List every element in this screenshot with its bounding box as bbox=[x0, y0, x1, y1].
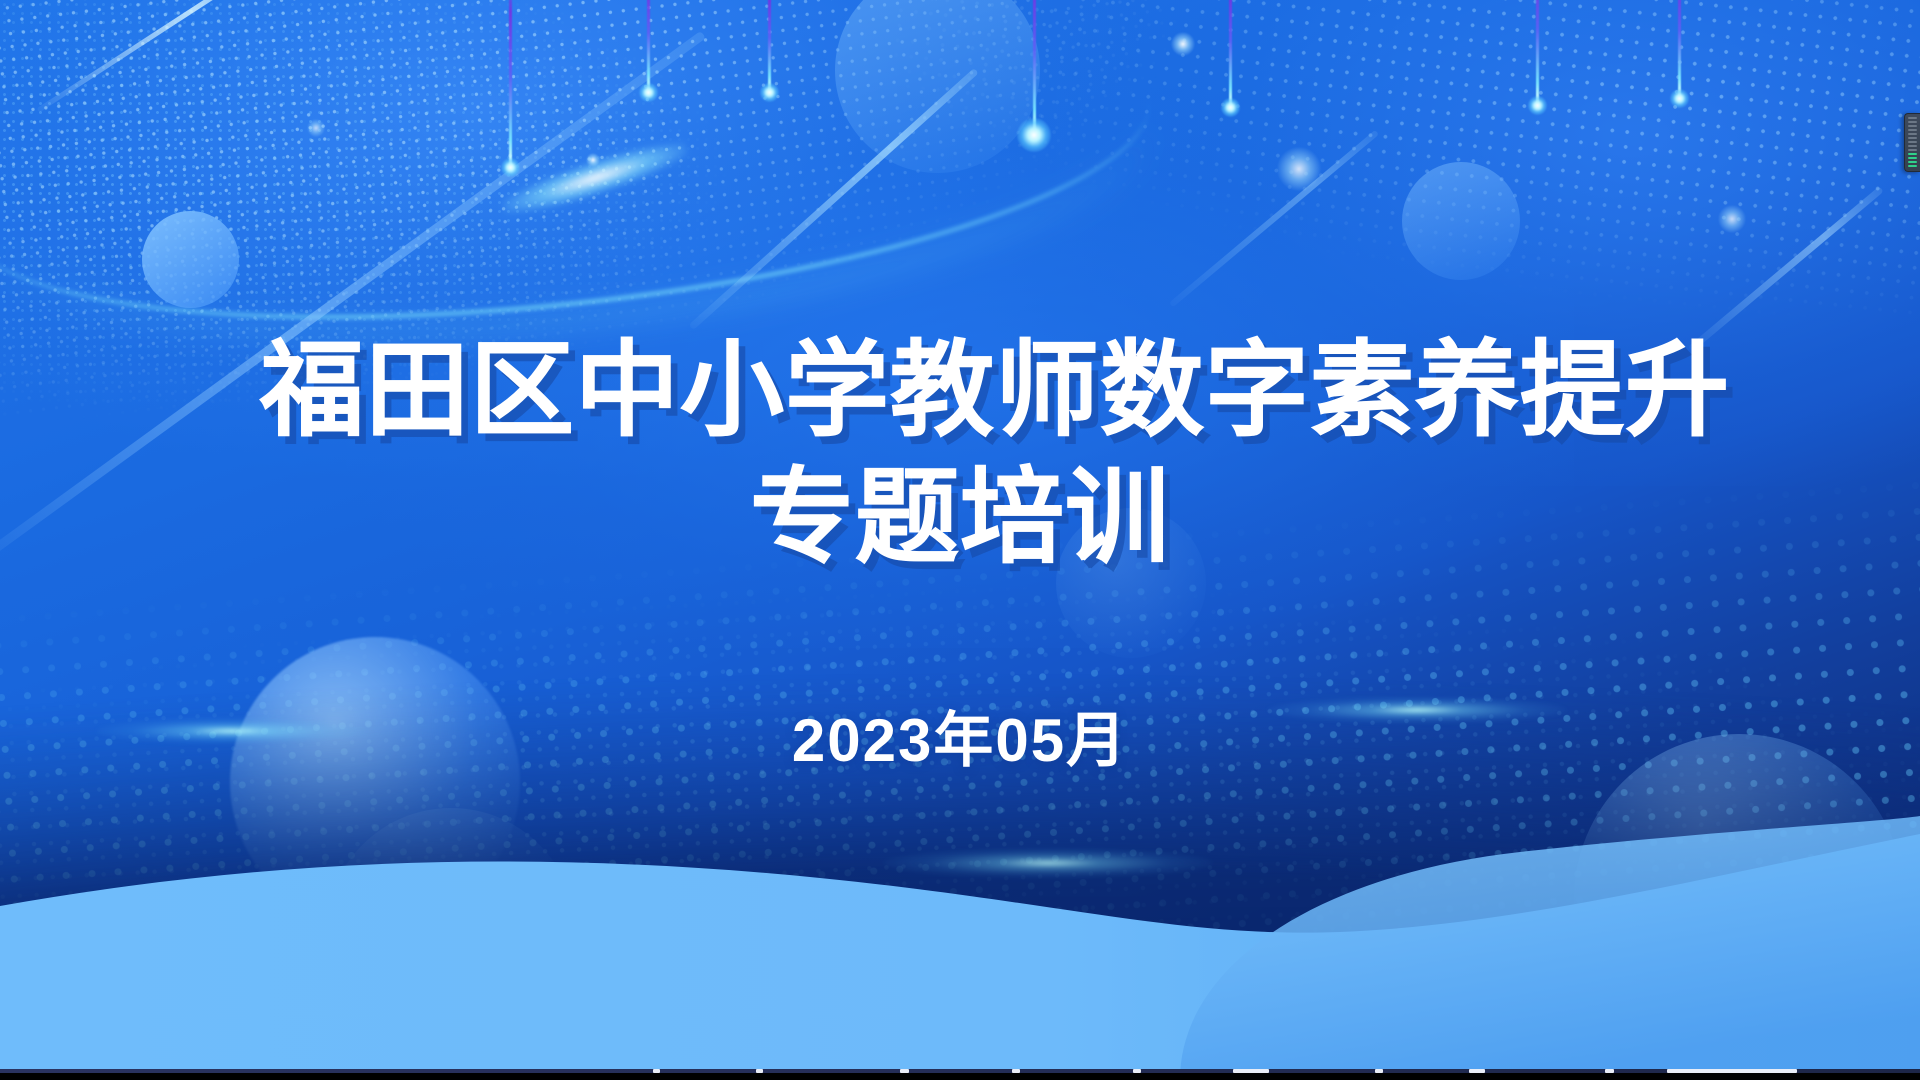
slide-title: 福田区中小学教师数字素养提升 专题培训 bbox=[260, 328, 1660, 582]
progress-rail-segment bbox=[1233, 1069, 1269, 1073]
level-bar-off bbox=[1908, 133, 1917, 135]
progress-rail-segment bbox=[900, 1069, 909, 1073]
progress-rail-segment bbox=[1667, 1069, 1798, 1073]
progress-rail-segment bbox=[1375, 1069, 1384, 1073]
title-line-2: 专题培训 bbox=[260, 455, 1660, 582]
progress-rail-segment bbox=[1012, 1069, 1021, 1073]
slide-content: 福田区中小学教师数字素养提升 专题培训 2023年05月 bbox=[0, 0, 1920, 1080]
level-bar-off bbox=[1908, 129, 1917, 131]
progress-rail-segment bbox=[653, 1069, 660, 1073]
slide-subtitle-date: 2023年05月 bbox=[792, 692, 1128, 779]
progress-rail-segment bbox=[1469, 1069, 1485, 1073]
level-bar-off bbox=[1908, 117, 1917, 119]
level-bar-off bbox=[1908, 137, 1917, 139]
progress-rail-track[interactable] bbox=[0, 1069, 1920, 1073]
level-bar-off bbox=[1908, 121, 1917, 123]
level-bar-off bbox=[1908, 141, 1917, 143]
progress-rail-segment bbox=[1133, 1069, 1142, 1073]
level-bar-off bbox=[1908, 125, 1917, 127]
level-bar-off bbox=[1908, 149, 1917, 151]
signal-level-indicator[interactable] bbox=[1904, 113, 1920, 172]
presentation-slide: 福田区中小学教师数字素养提升 专题培训 2023年05月 bbox=[0, 0, 1920, 1080]
level-bar-off bbox=[1908, 145, 1917, 147]
progress-rail-segment bbox=[756, 1069, 763, 1073]
level-bar-on bbox=[1908, 161, 1917, 163]
progress-rail-segment bbox=[1605, 1069, 1614, 1073]
level-bar-on bbox=[1908, 153, 1917, 155]
progress-rail[interactable] bbox=[0, 1069, 1920, 1080]
level-bar-on bbox=[1908, 157, 1917, 159]
level-bar-on bbox=[1908, 165, 1917, 167]
title-line-1: 福田区中小学教师数字素养提升 bbox=[260, 328, 1660, 455]
